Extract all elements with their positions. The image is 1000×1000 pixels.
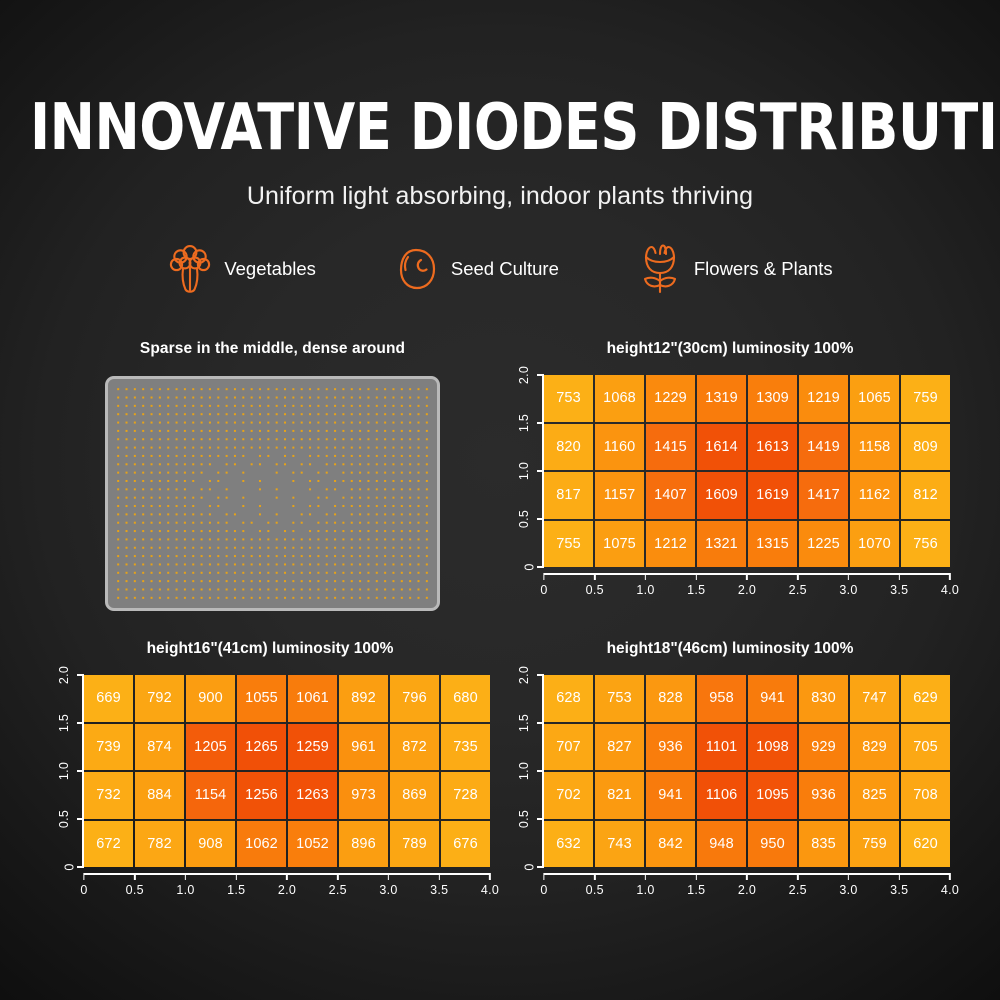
x-axis-tick-mark (695, 873, 697, 880)
heatmap-cell: 896 (339, 821, 388, 868)
poster-root: INNOVATIVE DIODES DISTRIBUTION Uniform l… (0, 0, 1000, 1000)
x-axis-tick-label: 3.5 (430, 883, 448, 897)
x-axis-tick: 2.0 (278, 873, 296, 897)
heatmap-cell: 1309 (748, 375, 797, 422)
broccoli-icon (167, 244, 213, 294)
heatmap-title: height16"(41cm) luminosity 100% (50, 640, 490, 658)
y-axis-tick-label: 0 (62, 863, 76, 870)
heatmap-cell: 817 (544, 472, 593, 519)
heatmap-cell: 908 (186, 821, 235, 868)
x-axis-tick: 4.0 (941, 573, 959, 597)
x-axis-tick-label: 1.5 (687, 883, 705, 897)
heatmap-cell: 1321 (697, 521, 746, 568)
heatmap-cell: 728 (441, 772, 490, 819)
heatmap-title: height18"(46cm) luminosity 100% (510, 640, 950, 658)
heatmap-cell: 1259 (288, 724, 337, 771)
heatmap-cell: 732 (84, 772, 133, 819)
feature-item-seed-culture: Seed Culture (394, 244, 559, 294)
y-axis-tick-mark (537, 518, 544, 520)
y-axis-tick-mark (537, 470, 544, 472)
x-axis-tick-label: 2.0 (278, 883, 296, 897)
x-axis: 00.51.01.52.02.53.03.54.0 (544, 867, 950, 901)
heatmap-cell: 835 (799, 821, 848, 868)
heatmap-cell: 1070 (850, 521, 899, 568)
led-panel-block: Sparse in the middle, dense around (60, 340, 485, 611)
heatmap-cell: 1075 (595, 521, 644, 568)
heatmap-cell: 961 (339, 724, 388, 771)
x-axis-tick-mark (134, 873, 136, 880)
heatmap-cell: 936 (799, 772, 848, 819)
heatmap-cell: 1315 (748, 521, 797, 568)
heatmap-grid: 7531068122913191309121910657598201160141… (544, 375, 950, 567)
y-axis: 2.01.51.00.50 (510, 675, 544, 867)
x-axis-tick: 2.0 (738, 573, 756, 597)
page-title: INNOVATIVE DIODES DISTRIBUTION (30, 96, 970, 160)
heatmap-cell: 792 (135, 675, 184, 722)
heatmap-cell: 900 (186, 675, 235, 722)
y-axis-tick-mark (537, 722, 544, 724)
heatmap-cell: 1219 (799, 375, 848, 422)
led-panel-title: Sparse in the middle, dense around (60, 340, 485, 358)
page-subtitle: Uniform light absorbing, indoor plants t… (0, 182, 1000, 211)
x-axis-tick-mark (746, 873, 748, 880)
y-axis-tick-mark (537, 866, 544, 868)
x-axis-tick: 2.5 (789, 573, 807, 597)
heatmap-height12: height12"(30cm) luminosity 100% 2.01.51.… (510, 340, 950, 601)
heatmap-cell: 669 (84, 675, 133, 722)
heatmap-cell: 1212 (646, 521, 695, 568)
x-axis-tick-mark (645, 573, 647, 580)
x-axis-tick: 3.5 (430, 873, 448, 897)
heatmap-cell: 796 (390, 675, 439, 722)
y-axis-tick-mark (537, 770, 544, 772)
x-axis-tick-mark (489, 873, 491, 880)
heatmap-cell: 1061 (288, 675, 337, 722)
x-axis-tick: 0 (540, 873, 547, 897)
heatmap-cell: 829 (850, 724, 899, 771)
feature-label: Flowers & Plants (694, 258, 833, 280)
heatmap-cell: 789 (390, 821, 439, 868)
heatmap-grid: 6697929001055106189279668073987412051265… (84, 675, 490, 867)
x-axis-tick: 1.5 (687, 573, 705, 597)
y-axis-tick-label: 0 (522, 563, 536, 570)
x-axis-tick-mark (746, 573, 748, 580)
y-axis-tick-mark (537, 374, 544, 376)
x-axis-tick-mark (337, 873, 339, 880)
heatmap-cell: 1162 (850, 472, 899, 519)
heatmap-cell: 1263 (288, 772, 337, 819)
x-axis-tick: 3.5 (890, 573, 908, 597)
heatmap-cell: 628 (544, 675, 593, 722)
heatmap-cell: 1415 (646, 424, 695, 471)
x-axis-tick-mark (848, 573, 850, 580)
x-axis-tick-mark (695, 573, 697, 580)
y-axis-tick-mark (537, 422, 544, 424)
x-axis-tick: 2.0 (738, 873, 756, 897)
heatmap-cell: 958 (697, 675, 746, 722)
x-axis-tick: 1.0 (636, 573, 654, 597)
y-axis-tick-label: 2.0 (57, 666, 71, 684)
heatmap-cell: 929 (799, 724, 848, 771)
heatmap-grid: 6287538289589418307476297078279361101109… (544, 675, 950, 867)
heatmap-cell: 759 (850, 821, 899, 868)
heatmap-cell: 680 (441, 675, 490, 722)
x-axis-tick: 3.0 (839, 573, 857, 597)
heatmap-cell: 809 (901, 424, 950, 471)
heatmap-cell: 1225 (799, 521, 848, 568)
y-axis: 2.01.51.00.50 (510, 375, 544, 567)
x-axis-tick-mark (949, 573, 951, 580)
heatmap-cell: 948 (697, 821, 746, 868)
x-axis-tick-mark (388, 873, 390, 880)
heatmap-cell: 1098 (748, 724, 797, 771)
heatmap-cell: 759 (901, 375, 950, 422)
x-axis-tick-label: 3.0 (379, 883, 397, 897)
heatmap-cell: 1101 (697, 724, 746, 771)
heatmap-cell: 973 (339, 772, 388, 819)
x-axis-tick: 3.0 (379, 873, 397, 897)
x-axis-tick-label: 3.0 (839, 883, 857, 897)
x-axis-tick-mark (286, 873, 288, 880)
heatmap-cell: 941 (646, 772, 695, 819)
x-axis-tick-label: 3.5 (890, 583, 908, 597)
y-axis-tick-mark (537, 674, 544, 676)
tulip-icon (637, 244, 683, 294)
heatmap-cell: 842 (646, 821, 695, 868)
heatmap-cell: 872 (390, 724, 439, 771)
x-axis-tick-label: 4.0 (941, 883, 959, 897)
y-axis-tick-label: 0 (522, 863, 536, 870)
heatmap-cell: 821 (595, 772, 644, 819)
heatmap-cell: 1419 (799, 424, 848, 471)
heatmap-cell: 1068 (595, 375, 644, 422)
heatmap-cell: 672 (84, 821, 133, 868)
heatmap-cell: 632 (544, 821, 593, 868)
feature-label: Vegetables (224, 258, 316, 280)
heatmap-cell: 755 (544, 521, 593, 568)
x-axis-tick: 3.5 (890, 873, 908, 897)
y-axis-tick-label: 1.5 (517, 714, 531, 732)
x-axis-tick: 0 (540, 573, 547, 597)
seed-icon (394, 244, 440, 294)
heatmap-cell: 735 (441, 724, 490, 771)
x-axis-tick: 2.5 (789, 873, 807, 897)
heatmap-cell: 1319 (697, 375, 746, 422)
heatmap-title: height12"(30cm) luminosity 100% (510, 340, 950, 358)
heatmap-cell: 874 (135, 724, 184, 771)
y-axis-tick-label: 0.5 (57, 810, 71, 828)
heatmap-cell: 1417 (799, 472, 848, 519)
heatmap-cell: 620 (901, 821, 950, 868)
heatmap-cell: 1052 (288, 821, 337, 868)
heatmap-cell: 950 (748, 821, 797, 868)
y-axis-tick-mark (77, 818, 84, 820)
feature-label: Seed Culture (451, 258, 559, 280)
heatmap-cell: 1062 (237, 821, 286, 868)
x-axis-tick-label: 0.5 (586, 883, 604, 897)
x-axis-tick-mark (438, 873, 440, 880)
heatmap-cell: 747 (850, 675, 899, 722)
x-axis-tick: 0 (80, 873, 87, 897)
x-axis-tick: 2.5 (329, 873, 347, 897)
x-axis-tick-mark (898, 573, 900, 580)
y-axis-tick-mark (537, 566, 544, 568)
heatmap-cell: 1154 (186, 772, 235, 819)
heatmap-cell: 708 (901, 772, 950, 819)
x-axis-tick: 0.5 (586, 573, 604, 597)
heatmap-cell: 1157 (595, 472, 644, 519)
x-axis-tick-label: 1.0 (176, 883, 194, 897)
x-axis-tick-label: 2.0 (738, 883, 756, 897)
heatmap-cell: 676 (441, 821, 490, 868)
heatmap-cell: 812 (901, 472, 950, 519)
x-axis-tick-mark (235, 873, 237, 880)
x-axis-tick-mark (594, 873, 596, 880)
x-axis-tick: 0.5 (126, 873, 144, 897)
x-axis-tick-label: 3.0 (839, 583, 857, 597)
y-axis-tick-label: 1.0 (517, 762, 531, 780)
x-axis-tick-label: 0 (540, 583, 547, 597)
y-axis-tick-label: 1.5 (517, 414, 531, 432)
heatmap-cell: 753 (544, 375, 593, 422)
heatmap-cell: 739 (84, 724, 133, 771)
x-axis-tick-label: 0 (540, 883, 547, 897)
heatmap-cell: 629 (901, 675, 950, 722)
heatmap-cell: 1205 (186, 724, 235, 771)
x-axis-tick-label: 1.5 (687, 583, 705, 597)
x-axis-tick-label: 2.0 (738, 583, 756, 597)
x-axis-tick-mark (645, 873, 647, 880)
y-axis-tick-mark (77, 866, 84, 868)
heatmap-cell: 705 (901, 724, 950, 771)
x-axis-tick-mark (543, 873, 545, 880)
heatmap-cell: 869 (390, 772, 439, 819)
heatmap-height18: height18"(46cm) luminosity 100% 2.01.51.… (510, 640, 950, 901)
led-diode-grid (114, 385, 431, 602)
y-axis-tick-mark (77, 770, 84, 772)
x-axis: 00.51.01.52.02.53.03.54.0 (544, 567, 950, 601)
feature-item-flowers-plants: Flowers & Plants (637, 244, 833, 294)
heatmap-cell: 782 (135, 821, 184, 868)
x-axis-tick-label: 1.0 (636, 883, 654, 897)
heatmap-cell: 1065 (850, 375, 899, 422)
heatmap-cell: 828 (646, 675, 695, 722)
heatmap-cell: 1613 (748, 424, 797, 471)
heatmap-cell: 1158 (850, 424, 899, 471)
x-axis-tick-mark (83, 873, 85, 880)
x-axis-tick: 1.0 (636, 873, 654, 897)
heatmap-cell: 820 (544, 424, 593, 471)
y-axis-tick-mark (77, 674, 84, 676)
x-axis-tick-label: 1.5 (227, 883, 245, 897)
x-axis-tick: 4.0 (941, 873, 959, 897)
x-axis-tick-mark (797, 873, 799, 880)
y-axis-tick-label: 0.5 (517, 810, 531, 828)
x-axis-tick-label: 4.0 (481, 883, 499, 897)
y-axis-tick-label: 1.0 (517, 462, 531, 480)
heatmap-cell: 1106 (697, 772, 746, 819)
heatmap-cell: 707 (544, 724, 593, 771)
heatmap-cell: 702 (544, 772, 593, 819)
feature-item-vegetables: Vegetables (167, 244, 316, 294)
heatmap-cell: 1619 (748, 472, 797, 519)
x-axis-tick-mark (949, 873, 951, 880)
y-axis-tick-mark (77, 722, 84, 724)
heatmap-cell: 753 (595, 675, 644, 722)
x-axis-tick-label: 4.0 (941, 583, 959, 597)
heatmap-cell: 756 (901, 521, 950, 568)
feature-list: Vegetables Seed Culture (0, 244, 1000, 294)
x-axis-tick-label: 0.5 (126, 883, 144, 897)
x-axis-tick-label: 2.5 (789, 583, 807, 597)
x-axis-tick-mark (848, 873, 850, 880)
heatmap-cell: 884 (135, 772, 184, 819)
x-axis-tick: 3.0 (839, 873, 857, 897)
heatmap-cell: 1229 (646, 375, 695, 422)
x-axis-tick-label: 2.5 (789, 883, 807, 897)
x-axis-tick-label: 0 (80, 883, 87, 897)
x-axis-tick-label: 3.5 (890, 883, 908, 897)
y-axis-tick-label: 2.0 (517, 666, 531, 684)
heatmap-cell: 1614 (697, 424, 746, 471)
x-axis-tick-label: 1.0 (636, 583, 654, 597)
x-axis-tick-mark (797, 573, 799, 580)
heatmap-cell: 1407 (646, 472, 695, 519)
x-axis: 00.51.01.52.02.53.03.54.0 (84, 867, 490, 901)
x-axis-tick: 1.0 (176, 873, 194, 897)
heatmap-cell: 1609 (697, 472, 746, 519)
heatmap-cell: 825 (850, 772, 899, 819)
x-axis-tick-mark (594, 573, 596, 580)
y-axis-tick-label: 1.0 (57, 762, 71, 780)
y-axis-tick-label: 0.5 (517, 510, 531, 528)
poster-header: INNOVATIVE DIODES DISTRIBUTION Uniform l… (0, 96, 1000, 211)
y-axis: 2.01.51.00.50 (50, 675, 84, 867)
x-axis-tick-mark (898, 873, 900, 880)
x-axis-tick: 1.5 (227, 873, 245, 897)
y-axis-tick-label: 2.0 (517, 366, 531, 384)
heatmap-cell: 892 (339, 675, 388, 722)
x-axis-tick: 0.5 (586, 873, 604, 897)
x-axis-tick: 4.0 (481, 873, 499, 897)
heatmap-cell: 1095 (748, 772, 797, 819)
heatmap-cell: 936 (646, 724, 695, 771)
x-axis-tick-label: 0.5 (586, 583, 604, 597)
y-axis-tick-mark (537, 818, 544, 820)
y-axis-tick-label: 1.5 (57, 714, 71, 732)
heatmap-cell: 1055 (237, 675, 286, 722)
heatmap-cell: 941 (748, 675, 797, 722)
led-board (105, 376, 440, 611)
x-axis-tick-mark (543, 573, 545, 580)
heatmap-cell: 830 (799, 675, 848, 722)
heatmap-height16: height16"(41cm) luminosity 100% 2.01.51.… (50, 640, 490, 901)
heatmap-cell: 1265 (237, 724, 286, 771)
heatmap-cell: 827 (595, 724, 644, 771)
heatmap-cell: 1256 (237, 772, 286, 819)
heatmap-cell: 743 (595, 821, 644, 868)
x-axis-tick: 1.5 (687, 873, 705, 897)
x-axis-tick-mark (185, 873, 187, 880)
heatmap-cell: 1160 (595, 424, 644, 471)
x-axis-tick-label: 2.5 (329, 883, 347, 897)
